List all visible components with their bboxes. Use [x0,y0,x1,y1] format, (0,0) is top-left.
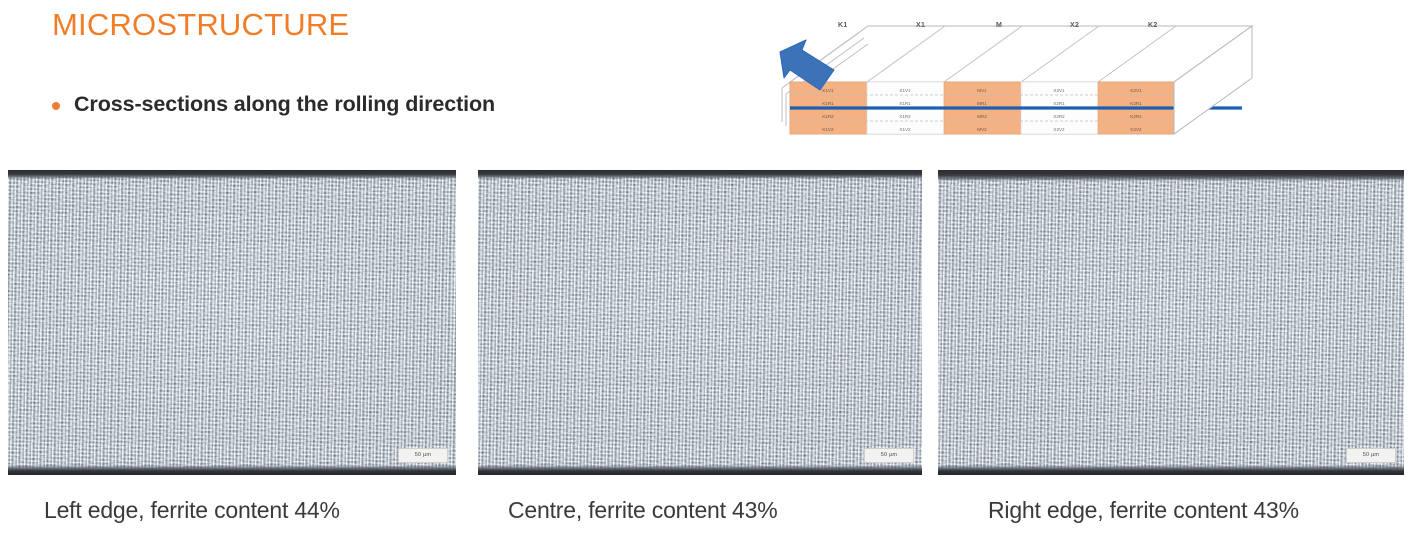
scale-bar: 50 µm [864,448,914,463]
strip-sampling-diagram: K1V1K1R1K1R2K1V2 X1V1X1R1X1R2X1V2 MV1MR1… [772,4,1262,154]
svg-text:K1V1: K1V1 [822,88,834,93]
micrograph-texture [938,170,1404,475]
svg-text:X2R1: X2R1 [1053,101,1065,106]
svg-text:MV1: MV1 [977,88,987,93]
diagram-header-x2: X2 [1070,22,1079,29]
caption-centre: Centre, ferrite content 43% [508,497,777,524]
scale-bar: 50 µm [1346,448,1396,463]
svg-text:X2R2: X2R2 [1053,114,1065,119]
micrograph-texture [8,170,456,475]
micrograph-right-edge: 50 µm [938,170,1404,475]
diagram-header-x1: X1 [916,22,925,29]
svg-text:K2V2: K2V2 [1130,127,1142,132]
svg-text:K2R1: K2R1 [1130,101,1142,106]
micrograph-centre: 50 µm [478,170,922,475]
svg-text:X1R1: X1R1 [899,101,911,106]
svg-text:MV2: MV2 [977,127,987,132]
svg-text:X1V2: X1V2 [899,127,911,132]
scale-bar-label: 50 µm [1363,453,1379,459]
micrograph-left-edge: 50 µm [8,170,456,475]
svg-text:K2V1: K2V1 [1130,88,1142,93]
scale-bar: 50 µm [398,448,448,463]
specimen-top-edge-band [8,170,456,179]
diagram-header-k1: K1 [838,22,848,29]
specimen-bottom-edge-band [8,465,456,475]
bullet-list-item: Cross-sections along the rolling directi… [52,92,495,117]
svg-text:X2V2: X2V2 [1053,127,1065,132]
svg-text:K1R2: K1R2 [822,114,834,119]
caption-right-edge: Right edge, ferrite content 43% [988,497,1299,524]
diagram-header-k2: K2 [1148,22,1158,29]
scale-bar-label: 50 µm [415,453,431,459]
svg-text:MR2: MR2 [977,114,987,119]
micrograph-texture [478,170,922,475]
slab-top-face [790,26,1252,82]
specimen-bottom-edge-band [938,465,1404,475]
svg-text:X1R2: X1R2 [899,114,911,119]
svg-text:K2R2: K2R2 [1130,114,1142,119]
specimen-top-edge-band [478,170,922,179]
bullet-text: Cross-sections along the rolling directi… [74,92,495,117]
svg-text:K1V2: K1V2 [822,127,834,132]
svg-text:X1V1: X1V1 [899,88,911,93]
svg-text:K1R1: K1R1 [822,101,834,106]
scale-bar-label: 50 µm [881,453,897,459]
page-title: MICROSTRUCTURE [52,7,349,43]
bullet-marker-icon [52,102,60,110]
diagram-header-m: M [996,22,1002,29]
specimen-bottom-edge-band [478,465,922,475]
specimen-top-edge-band [938,170,1404,181]
svg-text:X2V1: X2V1 [1053,88,1065,93]
caption-left-edge: Left edge, ferrite content 44% [44,497,340,524]
svg-text:MR1: MR1 [977,101,987,106]
